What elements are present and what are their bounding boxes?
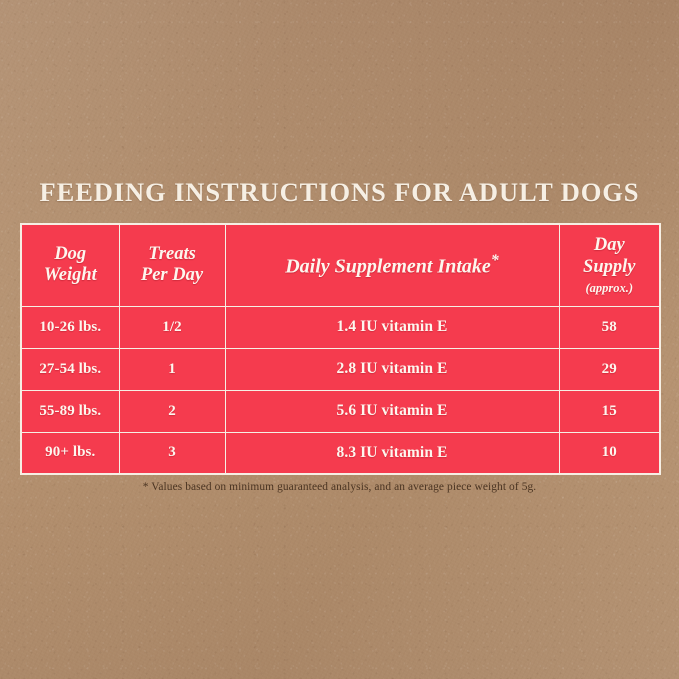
cell-day-supply: 58: [559, 306, 660, 348]
column-header-daily-supplement-intake-text: Daily Supplement Intake: [285, 255, 491, 277]
column-header-day-supply-line2: Supply: [560, 257, 660, 278]
page-title: FEEDING INSTRUCTIONS FOR ADULT DOGS: [0, 179, 679, 206]
cell-dog-weight: 10-26 lbs.: [21, 306, 119, 348]
cell-treats-per-day: 1: [119, 348, 225, 390]
cell-daily-supplement-intake: 2.8 IU vitamin E: [225, 348, 559, 390]
column-header-day-supply-line1: Day: [560, 235, 660, 256]
cell-daily-supplement-intake: 8.3 IU vitamin E: [225, 432, 559, 474]
cell-day-supply: 29: [559, 348, 660, 390]
cell-day-supply: 15: [559, 390, 660, 432]
table-header: Dog Weight Treats Per Day Daily Suppleme…: [21, 224, 660, 306]
column-header-dog-weight-line1: Dog: [22, 244, 119, 265]
table-row: 90+ lbs. 3 8.3 IU vitamin E 10: [21, 432, 660, 474]
feeding-instructions-panel: FEEDING INSTRUCTIONS FOR ADULT DOGS Dog …: [0, 0, 679, 679]
cell-day-supply: 10: [559, 432, 660, 474]
table-header-row: Dog Weight Treats Per Day Daily Suppleme…: [21, 224, 660, 306]
column-header-treats-per-day: Treats Per Day: [119, 224, 225, 306]
cell-daily-supplement-intake: 1.4 IU vitamin E: [225, 306, 559, 348]
cell-dog-weight: 27-54 lbs.: [21, 348, 119, 390]
footnote-marker-asterisk: *: [491, 252, 499, 269]
cell-treats-per-day: 2: [119, 390, 225, 432]
column-header-daily-supplement-intake: Daily Supplement Intake*: [225, 224, 559, 306]
table-row: 27-54 lbs. 1 2.8 IU vitamin E 29: [21, 348, 660, 390]
column-header-day-supply: Day Supply (approx.): [559, 224, 660, 306]
cell-treats-per-day: 3: [119, 432, 225, 474]
footnote-text: * Values based on minimum guaranteed ana…: [0, 481, 679, 493]
table-row: 55-89 lbs. 2 5.6 IU vitamin E 15: [21, 390, 660, 432]
table-body: 10-26 lbs. 1/2 1.4 IU vitamin E 58 27-54…: [21, 306, 660, 474]
cell-treats-per-day: 1/2: [119, 306, 225, 348]
column-header-treats-per-day-line2: Per Day: [120, 265, 225, 286]
cell-dog-weight: 55-89 lbs.: [21, 390, 119, 432]
table-row: 10-26 lbs. 1/2 1.4 IU vitamin E 58: [21, 306, 660, 348]
column-header-treats-per-day-line1: Treats: [120, 244, 225, 265]
column-header-dog-weight: Dog Weight: [21, 224, 119, 306]
cell-dog-weight: 90+ lbs.: [21, 432, 119, 474]
feeding-instructions-table: Dog Weight Treats Per Day Daily Suppleme…: [20, 223, 661, 475]
column-header-day-supply-approx: (approx.): [560, 281, 660, 296]
column-header-dog-weight-line2: Weight: [22, 265, 119, 286]
cell-daily-supplement-intake: 5.6 IU vitamin E: [225, 390, 559, 432]
